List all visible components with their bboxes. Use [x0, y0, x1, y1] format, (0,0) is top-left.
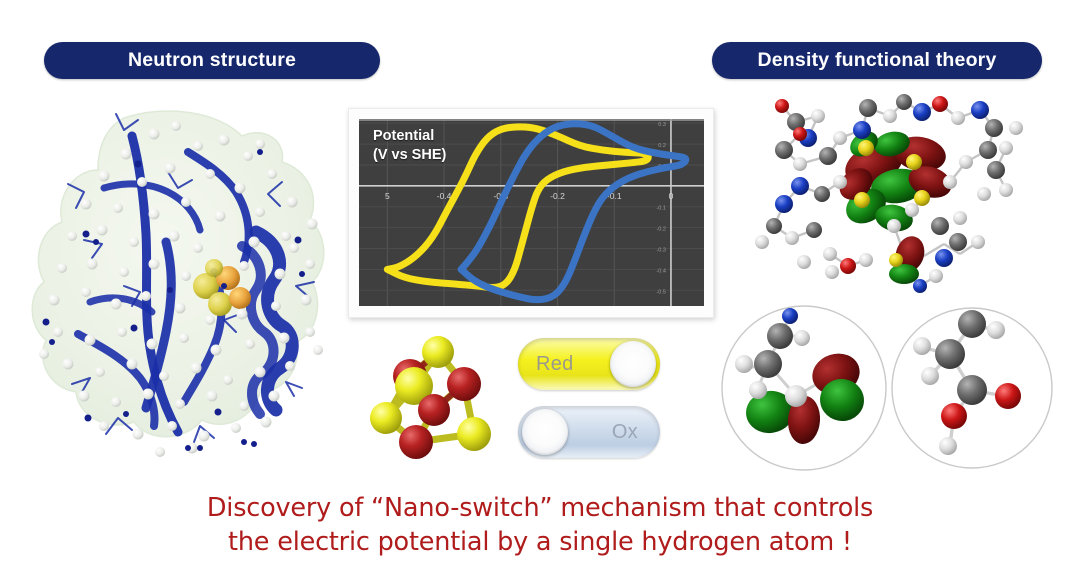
- figure-caption: Discovery of “Nano-switch” mechanism tha…: [0, 492, 1080, 560]
- sulfur-atom: [370, 402, 402, 434]
- badge-density-functional-theory: Density functional theory: [712, 42, 1042, 79]
- svg-text:0.2: 0.2: [658, 143, 666, 149]
- toggle-oxidized-state[interactable]: Ox: [518, 406, 660, 458]
- svg-text:0.3: 0.3: [658, 122, 666, 128]
- svg-text:-0.2: -0.2: [550, 191, 565, 201]
- iron-atom: [399, 425, 433, 459]
- neutron-protein-structure: [28, 96, 358, 488]
- protonated-carboxylic-acid-inset: [888, 302, 1060, 474]
- toggle-ox-knob[interactable]: [522, 409, 568, 455]
- svg-text:-0.1: -0.1: [656, 206, 665, 212]
- toggle-ox-label: Ox: [612, 421, 638, 444]
- sulfur-atom: [457, 417, 491, 451]
- iron-sulfur-cluster: [362, 330, 518, 470]
- svg-text:0: 0: [669, 191, 674, 201]
- figure-canvas: Neutron structure Density functional the…: [0, 0, 1080, 577]
- badge-neutron-structure: Neutron structure: [44, 42, 380, 79]
- svg-text:-0.2: -0.2: [656, 227, 665, 233]
- iron-atom: [418, 394, 450, 426]
- toggle-red-label: Red: [536, 353, 574, 376]
- cv-chart-svg: 5-0.4-0.3-0.2-0.100.30.20.1-0.1-0.2-0.3-…: [359, 119, 704, 306]
- iron-atom: [447, 367, 481, 401]
- deprotonated-carboxylate-inset: [718, 302, 890, 474]
- toggle-reduced-state[interactable]: Red: [518, 338, 660, 390]
- svg-text:-0.4: -0.4: [656, 268, 665, 274]
- svg-text:-0.5: -0.5: [656, 289, 665, 295]
- dft-molecular-model: [744, 86, 1062, 298]
- toggle-red-knob[interactable]: [610, 341, 656, 387]
- sulfur-atom: [422, 336, 454, 368]
- cyclic-voltammetry-plot: 5-0.4-0.3-0.2-0.100.30.20.1-0.1-0.2-0.3-…: [348, 108, 714, 318]
- svg-text:5: 5: [385, 191, 390, 201]
- svg-text:-0.3: -0.3: [656, 248, 665, 254]
